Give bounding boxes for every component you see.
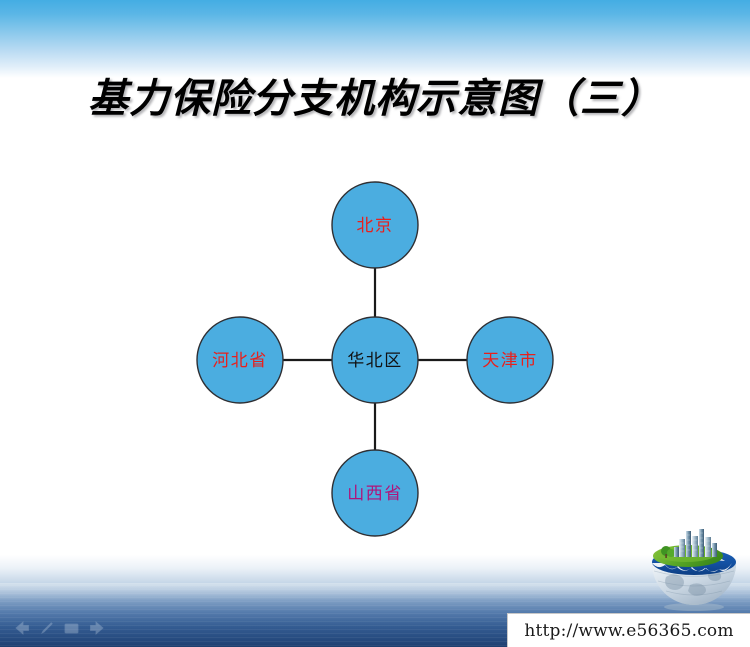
next-slide-icon[interactable] bbox=[89, 621, 105, 635]
node-hebei-label: 河北省 bbox=[212, 351, 268, 371]
node-north-china-region[interactable]: 华北区 bbox=[332, 317, 418, 403]
pen-tool-icon[interactable] bbox=[40, 621, 54, 635]
node-shanxi-label: 山西省 bbox=[347, 484, 403, 504]
previous-slide-icon[interactable] bbox=[14, 621, 30, 635]
city-skyline bbox=[674, 529, 717, 557]
node-beijing[interactable]: 北京 bbox=[332, 182, 418, 268]
node-shanxi[interactable]: 山西省 bbox=[332, 450, 418, 536]
node-hebei[interactable]: 河北省 bbox=[197, 317, 283, 403]
slide-menu-icon[interactable] bbox=[64, 622, 79, 635]
website-url-text: http://www.e56365.com bbox=[524, 621, 733, 641]
node-beijing-label: 北京 bbox=[357, 216, 394, 236]
page-title: 基力保险分支机构示意图（三） bbox=[0, 66, 750, 124]
slideshow-navigation-bar[interactable] bbox=[14, 621, 105, 635]
node-north-china-region-label: 华北区 bbox=[347, 351, 403, 371]
presentation-slide: 基力保险分支机构示意图（三） 北京 河北省 华北区 bbox=[0, 0, 750, 647]
node-tianjin[interactable]: 天津市 bbox=[467, 317, 553, 403]
node-tianjin-label: 天津市 bbox=[482, 351, 538, 371]
org-structure-diagram: 北京 河北省 华北区 天津市 山西省 bbox=[0, 150, 750, 560]
website-url-box[interactable]: http://www.e56365.com bbox=[507, 613, 750, 647]
earth-city-globe-logo bbox=[646, 527, 742, 619]
